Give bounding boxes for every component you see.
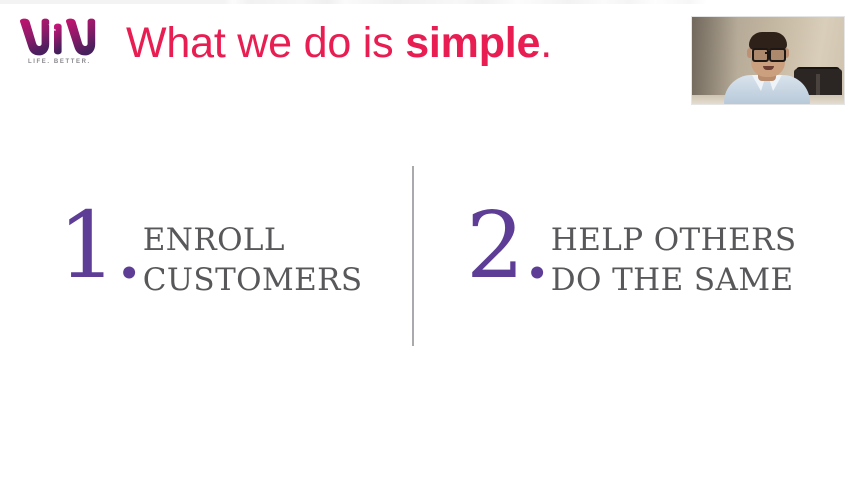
logo-tagline: LIFE. BETTER.	[28, 59, 91, 65]
slide-title-prefix: What we do is	[126, 19, 405, 67]
step-item-1: 1. ENROLL CUSTOMERS	[58, 203, 363, 300]
presentation-slide: LIFE. BETTER. What we do is simple. 1. E…	[0, 0, 862, 485]
slide-title-suffix: .	[540, 19, 552, 67]
top-edge-band	[0, 0, 862, 4]
ghost-artifact-right	[500, 372, 520, 432]
viv-logo-icon	[18, 18, 106, 56]
vertical-divider	[412, 166, 414, 346]
ghost-artifact-left	[150, 368, 163, 408]
step-1-line-1: ENROLL	[143, 221, 363, 261]
presenter-webcam[interactable]	[692, 17, 844, 104]
step-2-line-2: DO THE SAME	[551, 261, 797, 301]
webcam-eyeglasses-right-lens	[769, 48, 786, 62]
webcam-eyeglasses-left-lens	[752, 48, 769, 62]
step-1-number: 1.	[58, 203, 142, 289]
step-1-text: ENROLL CUSTOMERS	[143, 203, 363, 300]
step-2-line-1: HELP OTHERS	[551, 221, 797, 261]
slide-title: What we do is simple.	[126, 19, 552, 68]
viv-logo: LIFE. BETTER.	[18, 18, 110, 74]
slide-title-emphasis: simple	[405, 19, 540, 67]
step-1-line-2: CUSTOMERS	[143, 261, 363, 301]
step-item-2: 2. HELP OTHERS DO THE SAME	[466, 203, 796, 300]
step-2-number: 2.	[466, 203, 550, 289]
webcam-eyeglasses-bridge	[765, 52, 770, 54]
step-2-text: HELP OTHERS DO THE SAME	[551, 203, 797, 300]
